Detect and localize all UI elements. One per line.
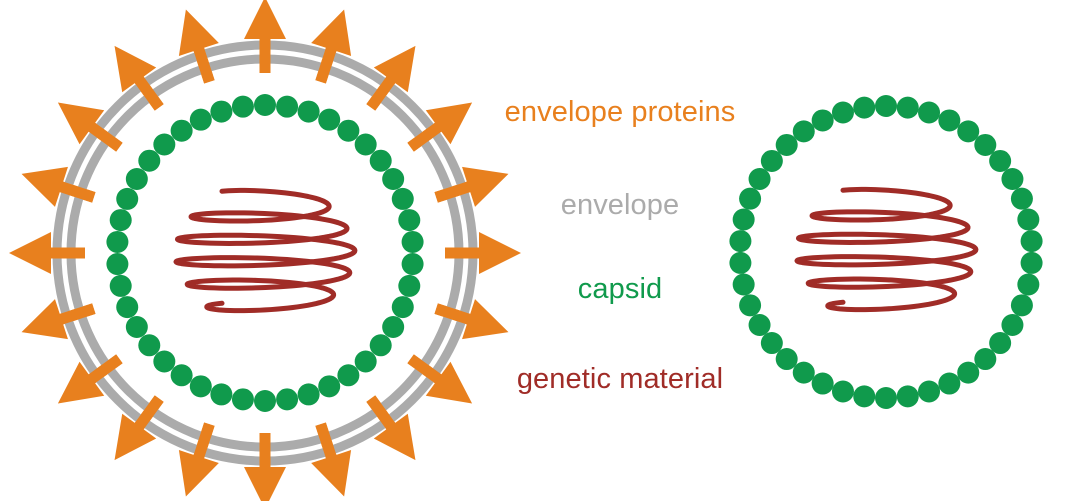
capsid-protein-dot (739, 188, 761, 210)
capsid-protein-dot (392, 188, 414, 210)
capsid-protein-dot (749, 168, 771, 190)
capsid-protein-dot (761, 332, 783, 354)
capsid-protein-dot (1011, 188, 1033, 210)
capsid-dot-ring (729, 95, 1042, 409)
capsid-protein-dot (153, 134, 175, 156)
capsid-protein-dot (729, 252, 751, 274)
envelope-inner-ring (71, 59, 459, 447)
capsid-protein-dot (776, 134, 798, 156)
capsid-protein-dot (957, 120, 979, 142)
capsid-protein-dot (382, 316, 404, 338)
capsid-protein-dot (126, 316, 148, 338)
capsid-protein-dot (337, 364, 359, 386)
capsid-protein-dot (875, 387, 897, 409)
capsid-protein-dot (398, 275, 420, 297)
non-enveloped-virus (729, 95, 1042, 409)
capsid-protein-dot (918, 101, 940, 123)
capsid-protein-dot (106, 253, 128, 275)
capsid-protein-dot (1017, 273, 1039, 295)
capsid-protein-dot (318, 109, 340, 131)
capsid-protein-dot (832, 381, 854, 403)
capsid-protein-dot (398, 209, 420, 231)
capsid-protein-dot (812, 109, 834, 131)
capsid-protein-dot (110, 275, 132, 297)
capsid-protein-dot (190, 375, 212, 397)
capsid-protein-dot (897, 97, 919, 119)
capsid-protein-dot (138, 334, 160, 356)
capsid-protein-dot (232, 96, 254, 118)
capsid-protein-dot (254, 94, 276, 116)
capsid-protein-dot (832, 101, 854, 123)
capsid-protein-dot (337, 120, 359, 142)
capsid-protein-dot (918, 381, 940, 403)
capsid-protein-dot (989, 150, 1011, 172)
capsid-protein-dot (110, 209, 132, 231)
capsid-protein-dot (126, 168, 148, 190)
capsid-protein-dot (276, 96, 298, 118)
genetic-material-helix (797, 189, 976, 309)
capsid-protein-dot (210, 101, 232, 123)
capsid-protein-dot (318, 375, 340, 397)
capsid-protein-dot (793, 120, 815, 142)
capsid-protein-dot (875, 95, 897, 117)
capsid-dot-ring (106, 94, 423, 412)
capsid-protein-dot (392, 296, 414, 318)
capsid-protein-dot (382, 168, 404, 190)
capsid-protein-dot (276, 388, 298, 410)
capsid-protein-dot (812, 373, 834, 395)
capsid-protein-dot (171, 364, 193, 386)
capsid-protein-dot (210, 383, 232, 405)
capsid-protein-dot (370, 334, 392, 356)
capsid-protein-dot (190, 109, 212, 131)
capsid-protein-dot (1001, 314, 1023, 336)
capsid-protein-dot (793, 362, 815, 384)
capsid-protein-dot (1001, 168, 1023, 190)
capsid-protein-dot (254, 390, 276, 412)
capsid-protein-dot (739, 294, 761, 316)
capsid-protein-dot (106, 231, 128, 253)
capsid-protein-dot (974, 348, 996, 370)
capsid-protein-dot (957, 362, 979, 384)
capsid-protein-dot (853, 385, 875, 407)
capsid-protein-dot (232, 388, 254, 410)
capsid-protein-dot (402, 253, 424, 275)
capsid-protein-dot (1021, 252, 1043, 274)
capsid-protein-dot (1021, 230, 1043, 252)
capsid-protein-dot (733, 209, 755, 231)
capsid-protein-dot (298, 101, 320, 123)
capsid-protein-dot (1011, 294, 1033, 316)
capsid-protein-dot (370, 150, 392, 172)
capsid-protein-dot (729, 230, 751, 252)
capsid-protein-dot (853, 97, 875, 119)
capsid-protein-dot (116, 296, 138, 318)
diagram-canvas: envelope proteins envelope capsid geneti… (0, 0, 1072, 501)
enveloped-virus (9, 0, 521, 501)
capsid-protein-dot (1017, 209, 1039, 231)
virus-structure-diagram (0, 0, 1072, 501)
capsid-protein-dot (138, 150, 160, 172)
capsid-protein-dot (355, 134, 377, 156)
capsid-protein-dot (749, 314, 771, 336)
capsid-protein-dot (733, 273, 755, 295)
capsid-protein-dot (897, 385, 919, 407)
capsid-protein-dot (938, 373, 960, 395)
genetic-material-helix (176, 190, 355, 310)
capsid-protein-dot (116, 188, 138, 210)
capsid-protein-dot (153, 350, 175, 372)
capsid-protein-dot (355, 350, 377, 372)
capsid-protein-dot (298, 383, 320, 405)
capsid-protein-dot (938, 109, 960, 131)
capsid-protein-dot (171, 120, 193, 142)
envelope-protein-spike-group (9, 0, 521, 501)
capsid-protein-dot (402, 231, 424, 253)
